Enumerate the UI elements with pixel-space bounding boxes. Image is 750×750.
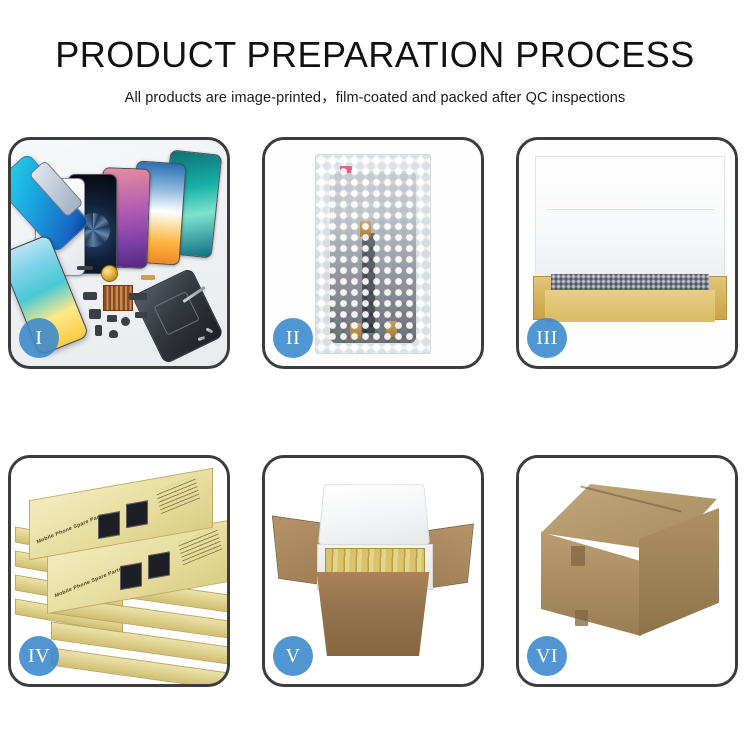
carton-tape-lower	[575, 610, 588, 626]
bubble-texture	[316, 155, 430, 353]
carton-body	[309, 572, 437, 656]
page-subtitle: All products are image-printed，film-coat…	[0, 86, 750, 107]
speaker-module	[101, 265, 118, 282]
photo-single-box-packing: III	[519, 140, 735, 366]
part-strip-2	[135, 312, 147, 318]
part-button-2	[109, 330, 118, 338]
process-step-grid: I II	[8, 137, 746, 687]
step-badge-3: III	[527, 318, 567, 358]
box-print-image-upper-1	[98, 511, 120, 539]
step-badge-6: VI	[527, 636, 567, 676]
photo-stacked-retail-boxes: Mobile Phone Spare Parts Mobile Phone Sp…	[11, 458, 227, 684]
process-step-panel-2: II	[262, 137, 484, 369]
photo-phone-parts-assortment: I	[11, 140, 227, 366]
box-print-image-lower-2	[148, 551, 170, 579]
photo-carton-loading: V	[265, 458, 481, 684]
part-flex-cable-1	[129, 293, 147, 300]
bubble-wrap-package	[315, 154, 431, 354]
photo-sealed-shipping-carton: VI	[519, 458, 735, 684]
step-badge-2: II	[273, 318, 313, 358]
process-step-panel-4: Mobile Phone Spare Parts Mobile Phone Sp…	[8, 455, 230, 687]
photo-bubble-wrapped-screen: II	[265, 140, 481, 366]
box-kraft-front	[545, 290, 715, 322]
infographic-page: PRODUCT PREPARATION PROCESS All products…	[0, 0, 750, 750]
foam-lid	[318, 484, 430, 545]
step-badge-4: IV	[19, 636, 59, 676]
process-step-panel-6: VI	[516, 455, 738, 687]
step-badge-1: I	[19, 318, 59, 358]
box-print-label-upper: Mobile Phone Spare Parts	[36, 512, 104, 545]
process-step-panel-3: III	[516, 137, 738, 369]
part-button-1	[95, 325, 102, 336]
part-connector-2	[89, 309, 101, 319]
part-strip-1	[77, 266, 93, 270]
part-gold-bracket	[141, 275, 155, 280]
box-white-lid	[535, 156, 725, 284]
header: PRODUCT PREPARATION PROCESS All products…	[0, 34, 750, 107]
box-print-label-lower: Mobile Phone Spare Parts	[54, 566, 122, 599]
process-step-panel-5: V	[262, 455, 484, 687]
page-title: PRODUCT PREPARATION PROCESS	[0, 34, 750, 76]
box-print-image-upper-2	[126, 500, 148, 528]
box-print-text-lines-upper	[156, 476, 200, 514]
carton-tape-upper	[571, 546, 585, 566]
part-connector-3	[107, 315, 117, 322]
part-connector-1	[83, 292, 97, 300]
process-step-panel-1: I	[8, 137, 230, 369]
box-print-image-lower-1	[120, 562, 142, 590]
step-badge-5: V	[273, 636, 313, 676]
part-camera-ring	[121, 317, 130, 326]
